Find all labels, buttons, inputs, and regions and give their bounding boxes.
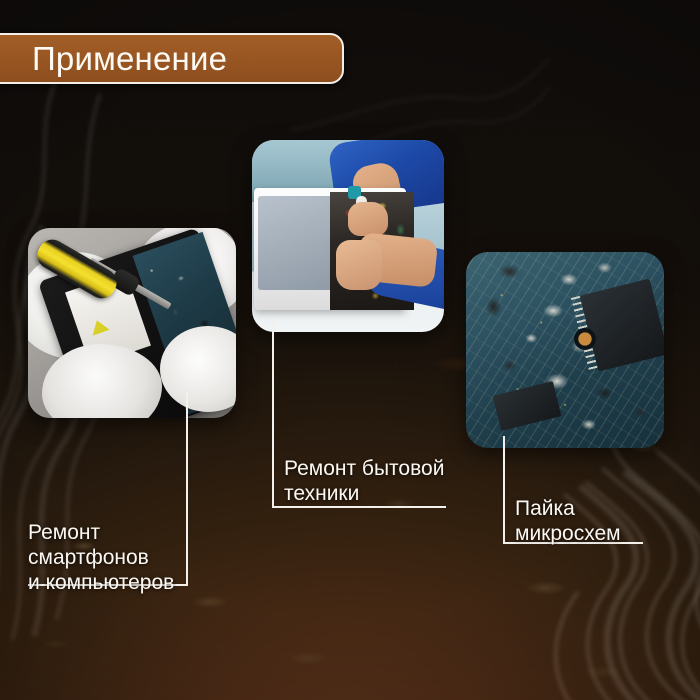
photo-card-smartphone-repair[interactable] (28, 228, 236, 418)
photo-card-appliance-repair[interactable] (252, 140, 444, 332)
title-banner: Применение (0, 33, 344, 84)
circuit-board-photo (466, 252, 664, 448)
connector-line-appliance (272, 318, 274, 508)
microwave-repair-photo (252, 140, 444, 332)
promo-slide: Применение (0, 0, 700, 700)
connector-line-microchip (503, 436, 505, 544)
caption-smartphone-repair: Ремонт смартфонов и компьютеров (28, 520, 188, 595)
photo-card-microchip-soldering[interactable] (466, 252, 664, 448)
caption-rule-appliance (272, 506, 446, 508)
caption-appliance-repair: Ремонт бытовой техники (284, 456, 464, 506)
page-title: Применение (32, 42, 227, 75)
caption-microchip-soldering: Пайка микросхем (515, 496, 665, 546)
phone-repair-photo (28, 228, 236, 418)
